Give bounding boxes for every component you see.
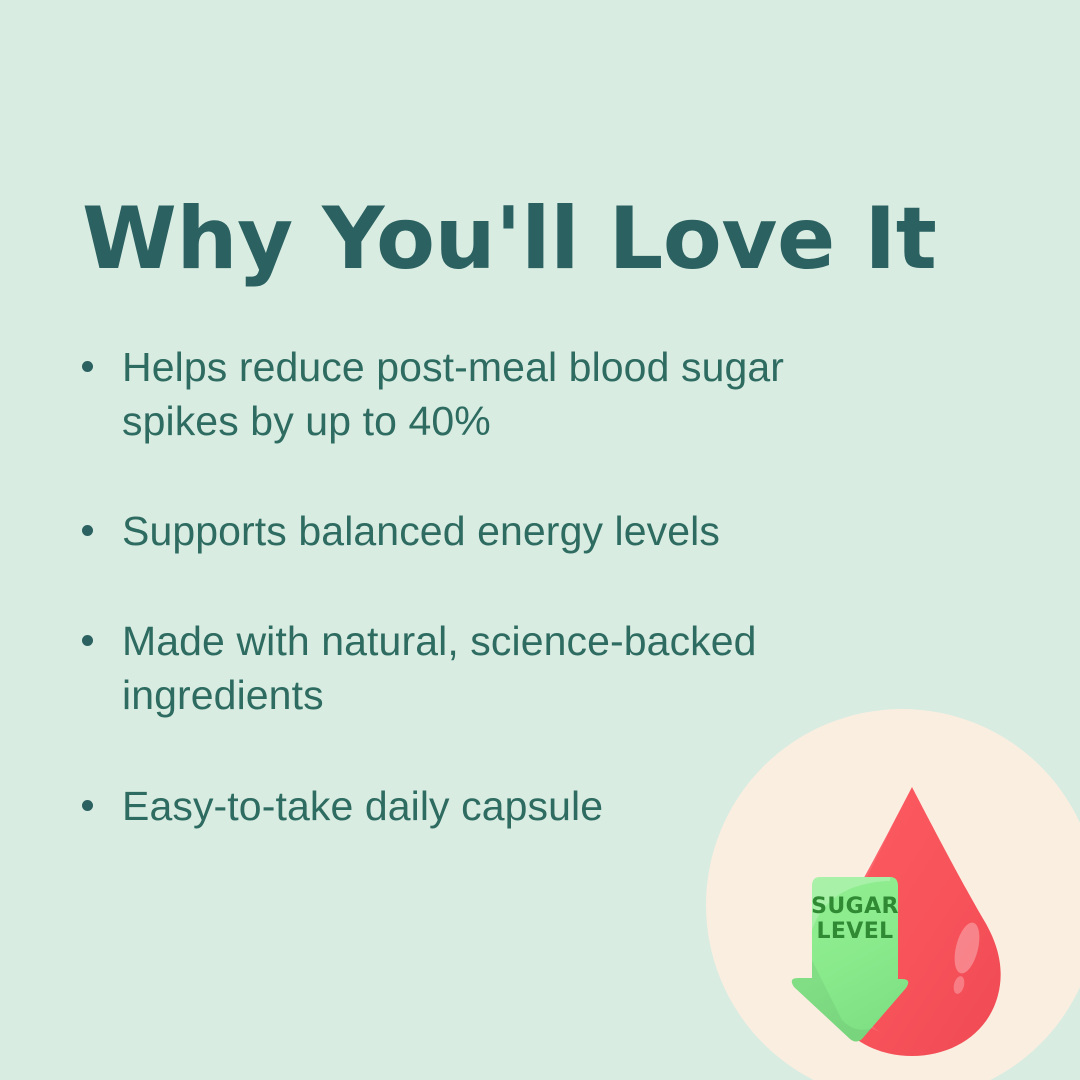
list-item: Supports balanced energy levels bbox=[78, 504, 938, 558]
promo-card: SUGAR LEVEL Why You'll Love It Helps red… bbox=[0, 0, 1080, 1080]
bullet-dot-icon bbox=[82, 525, 93, 536]
bullet-dot-icon bbox=[82, 361, 93, 372]
benefit-text: Helps reduce post-meal blood sugar spike… bbox=[122, 340, 822, 448]
arrow-label-line2: LEVEL bbox=[816, 919, 893, 944]
drop-highlight-small bbox=[952, 975, 966, 995]
benefit-text: Easy-to-take daily capsule bbox=[122, 779, 938, 833]
arrow-label-line1: SUGAR bbox=[811, 894, 899, 919]
page-title: Why You'll Love It bbox=[82, 196, 1012, 282]
bullet-dot-icon bbox=[82, 800, 93, 811]
drop-highlight bbox=[950, 920, 984, 976]
benefits-list: Helps reduce post-meal blood sugar spike… bbox=[78, 340, 938, 833]
list-item: Easy-to-take daily capsule bbox=[78, 779, 938, 833]
list-item: Made with natural, science-backed ingred… bbox=[78, 614, 938, 722]
down-arrow-icon: SUGAR LEVEL bbox=[792, 877, 909, 1042]
benefit-text: Made with natural, science-backed ingred… bbox=[122, 614, 912, 722]
benefit-text: Supports balanced energy levels bbox=[122, 504, 938, 558]
list-item: Helps reduce post-meal blood sugar spike… bbox=[78, 340, 938, 448]
bullet-dot-icon bbox=[82, 635, 93, 646]
